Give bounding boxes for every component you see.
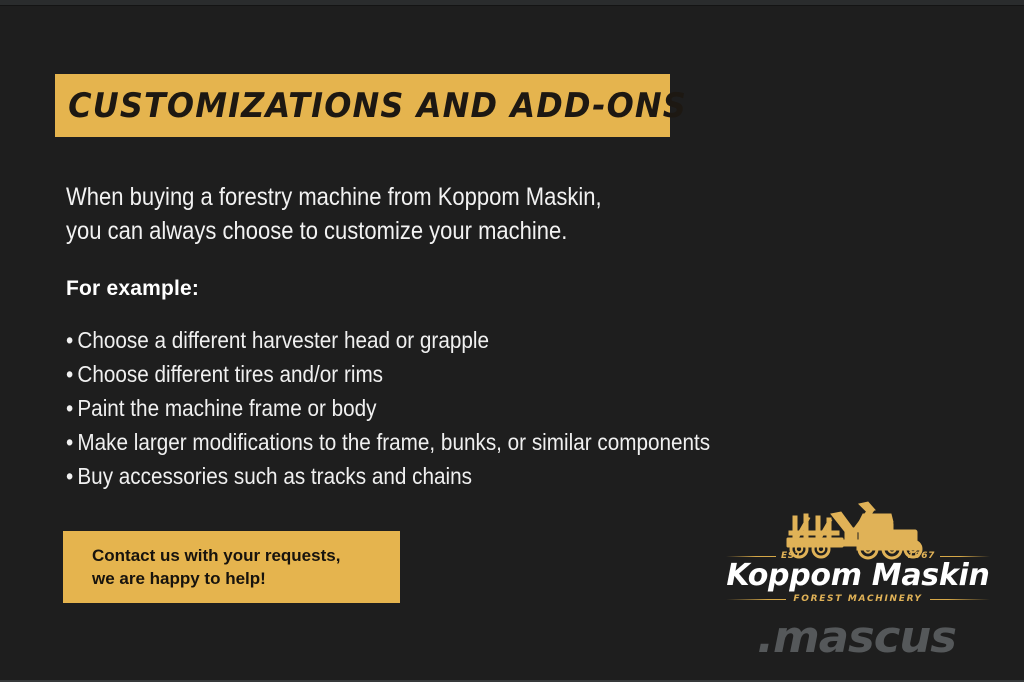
list-item: •Buy accessories such as tracks and chai…	[66, 459, 750, 493]
mascus-watermark: .mascus	[757, 612, 956, 663]
list-item-label: Buy accessories such as tracks and chain…	[77, 463, 472, 489]
intro-line-2: you can always choose to customize your …	[66, 214, 682, 248]
title-banner: CUSTOMIZATIONS AND ADD-ONS	[55, 74, 670, 137]
bullet-marker-icon: •	[66, 323, 77, 357]
koppom-maskin-logo: EST 1967 Koppom Maskin FOREST MACHINERY	[726, 498, 990, 608]
page-title: CUSTOMIZATIONS AND ADD-ONS	[55, 86, 687, 126]
list-item: •Choose a different harvester head or gr…	[66, 323, 750, 357]
list-item: •Make larger modifications to the frame,…	[66, 425, 750, 459]
list-item-label: Make larger modifications to the frame, …	[77, 429, 710, 455]
list-item-label: Choose a different harvester head or gra…	[77, 327, 489, 353]
est-rule-left	[726, 556, 776, 557]
est-rule-right	[940, 556, 990, 557]
subheading-for-example: For example:	[66, 277, 199, 301]
customization-options-list: •Choose a different harvester head or gr…	[66, 323, 826, 493]
top-edge-line	[0, 5, 1024, 6]
list-item: •Choose different tires and/or rims	[66, 357, 750, 391]
bullet-marker-icon: •	[66, 459, 77, 493]
tagline-rule-right	[930, 599, 990, 600]
bullet-marker-icon: •	[66, 357, 77, 391]
bullet-marker-icon: •	[66, 425, 77, 459]
contact-line-2: we are happy to help!	[92, 567, 400, 590]
bullet-marker-icon: •	[66, 391, 77, 425]
brand-wordmark: Koppom Maskin	[726, 558, 990, 593]
list-item: •Paint the machine frame or body	[66, 391, 750, 425]
intro-paragraph: When buying a forestry machine from Kopp…	[66, 180, 682, 248]
contact-cta-box[interactable]: Contact us with your requests, we are ha…	[63, 531, 400, 603]
tagline-row: FOREST MACHINERY	[726, 593, 990, 605]
slide-canvas: CUSTOMIZATIONS AND ADD-ONS When buying a…	[0, 0, 1024, 682]
contact-line-1: Contact us with your requests,	[92, 544, 400, 567]
list-item-label: Choose different tires and/or rims	[77, 361, 383, 387]
list-item-label: Paint the machine frame or body	[77, 395, 376, 421]
intro-line-1: When buying a forestry machine from Kopp…	[66, 180, 682, 214]
brand-tagline: FOREST MACHINERY	[786, 594, 929, 604]
tagline-rule-left	[726, 599, 786, 600]
